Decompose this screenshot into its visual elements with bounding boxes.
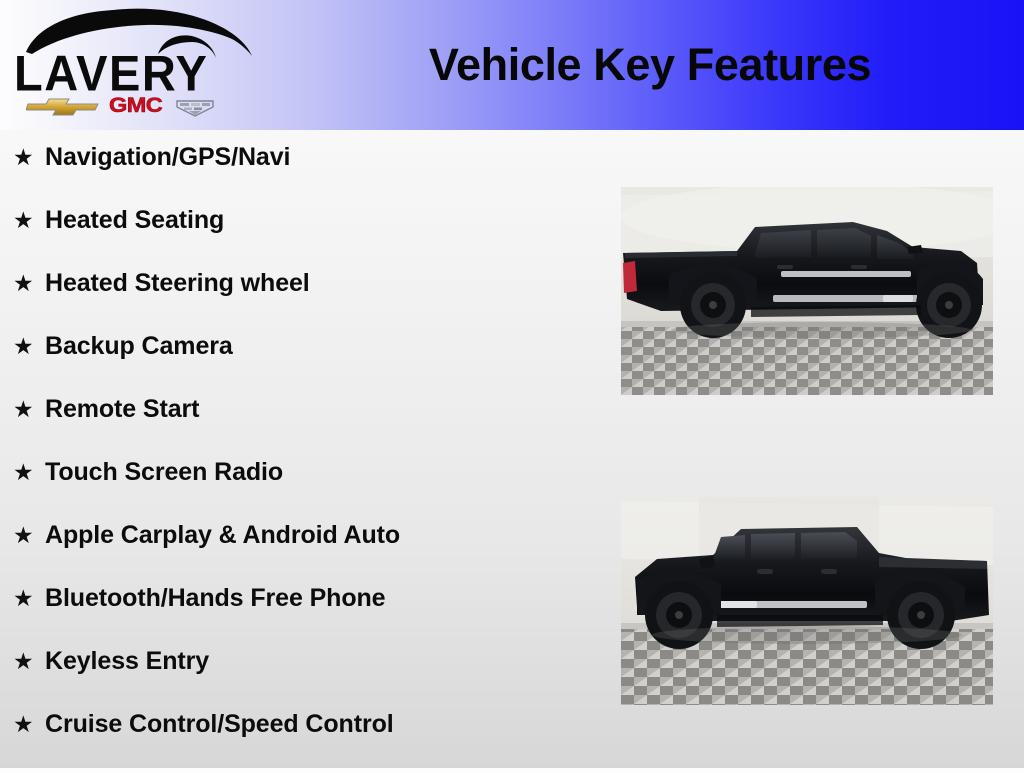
feature-label: Remote Start: [45, 395, 199, 423]
feature-label: Apple Carplay & Android Auto: [45, 521, 400, 549]
feature-label: Touch Screen Radio: [45, 458, 283, 486]
list-item: ★ Heated Seating: [0, 206, 600, 269]
list-item: ★ Cruise Control/Speed Control: [0, 710, 600, 773]
chevrolet-bowtie-icon: [26, 95, 100, 117]
cadillac-crest-icon: [176, 95, 214, 117]
slide: LAVERY GMC: [0, 0, 1024, 768]
list-item: ★ Bluetooth/Hands Free Phone: [0, 584, 600, 647]
feature-list: ★ Navigation/GPS/Navi ★ Heated Seating ★…: [0, 131, 600, 768]
star-bullet-icon: ★: [13, 588, 45, 611]
star-bullet-icon: ★: [13, 714, 45, 737]
page-title: Vehicle Key Features: [300, 0, 1000, 130]
feature-label: Heated Steering wheel: [45, 269, 310, 297]
star-bullet-icon: ★: [13, 273, 45, 296]
star-bullet-icon: ★: [13, 399, 45, 422]
gmc-wordmark: GMC: [109, 95, 162, 117]
feature-label: Keyless Entry: [45, 647, 209, 675]
list-item: ★ Apple Carplay & Android Auto: [0, 521, 600, 584]
star-bullet-icon: ★: [13, 462, 45, 485]
logo-wordmark: LAVERY: [14, 48, 254, 99]
logo-brand-row: GMC: [26, 93, 246, 119]
feature-label: Cruise Control/Speed Control: [45, 710, 394, 738]
star-bullet-icon: ★: [13, 651, 45, 674]
list-item: ★ Touch Screen Radio: [0, 458, 600, 521]
dealer-logo: LAVERY GMC: [8, 4, 258, 126]
feature-label: Bluetooth/Hands Free Phone: [45, 584, 385, 612]
list-item: ★ Backup Camera: [0, 332, 600, 395]
list-item: ★ Heated Steering wheel: [0, 269, 600, 332]
star-bullet-icon: ★: [13, 210, 45, 233]
list-item: ★ Remote Start: [0, 395, 600, 458]
feature-label: Heated Seating: [45, 206, 224, 234]
star-bullet-icon: ★: [13, 147, 45, 170]
feature-label: Navigation/GPS/Navi: [45, 143, 290, 171]
vehicle-photo-driver-side: [621, 497, 993, 705]
list-item: ★ Keyless Entry: [0, 647, 600, 710]
feature-label: Backup Camera: [45, 332, 233, 360]
list-item: ★ Navigation/GPS/Navi: [0, 143, 600, 206]
slide-header: LAVERY GMC: [0, 0, 1024, 130]
star-bullet-icon: ★: [13, 525, 45, 548]
vehicle-photo-passenger-side: [621, 187, 993, 395]
star-bullet-icon: ★: [13, 336, 45, 359]
